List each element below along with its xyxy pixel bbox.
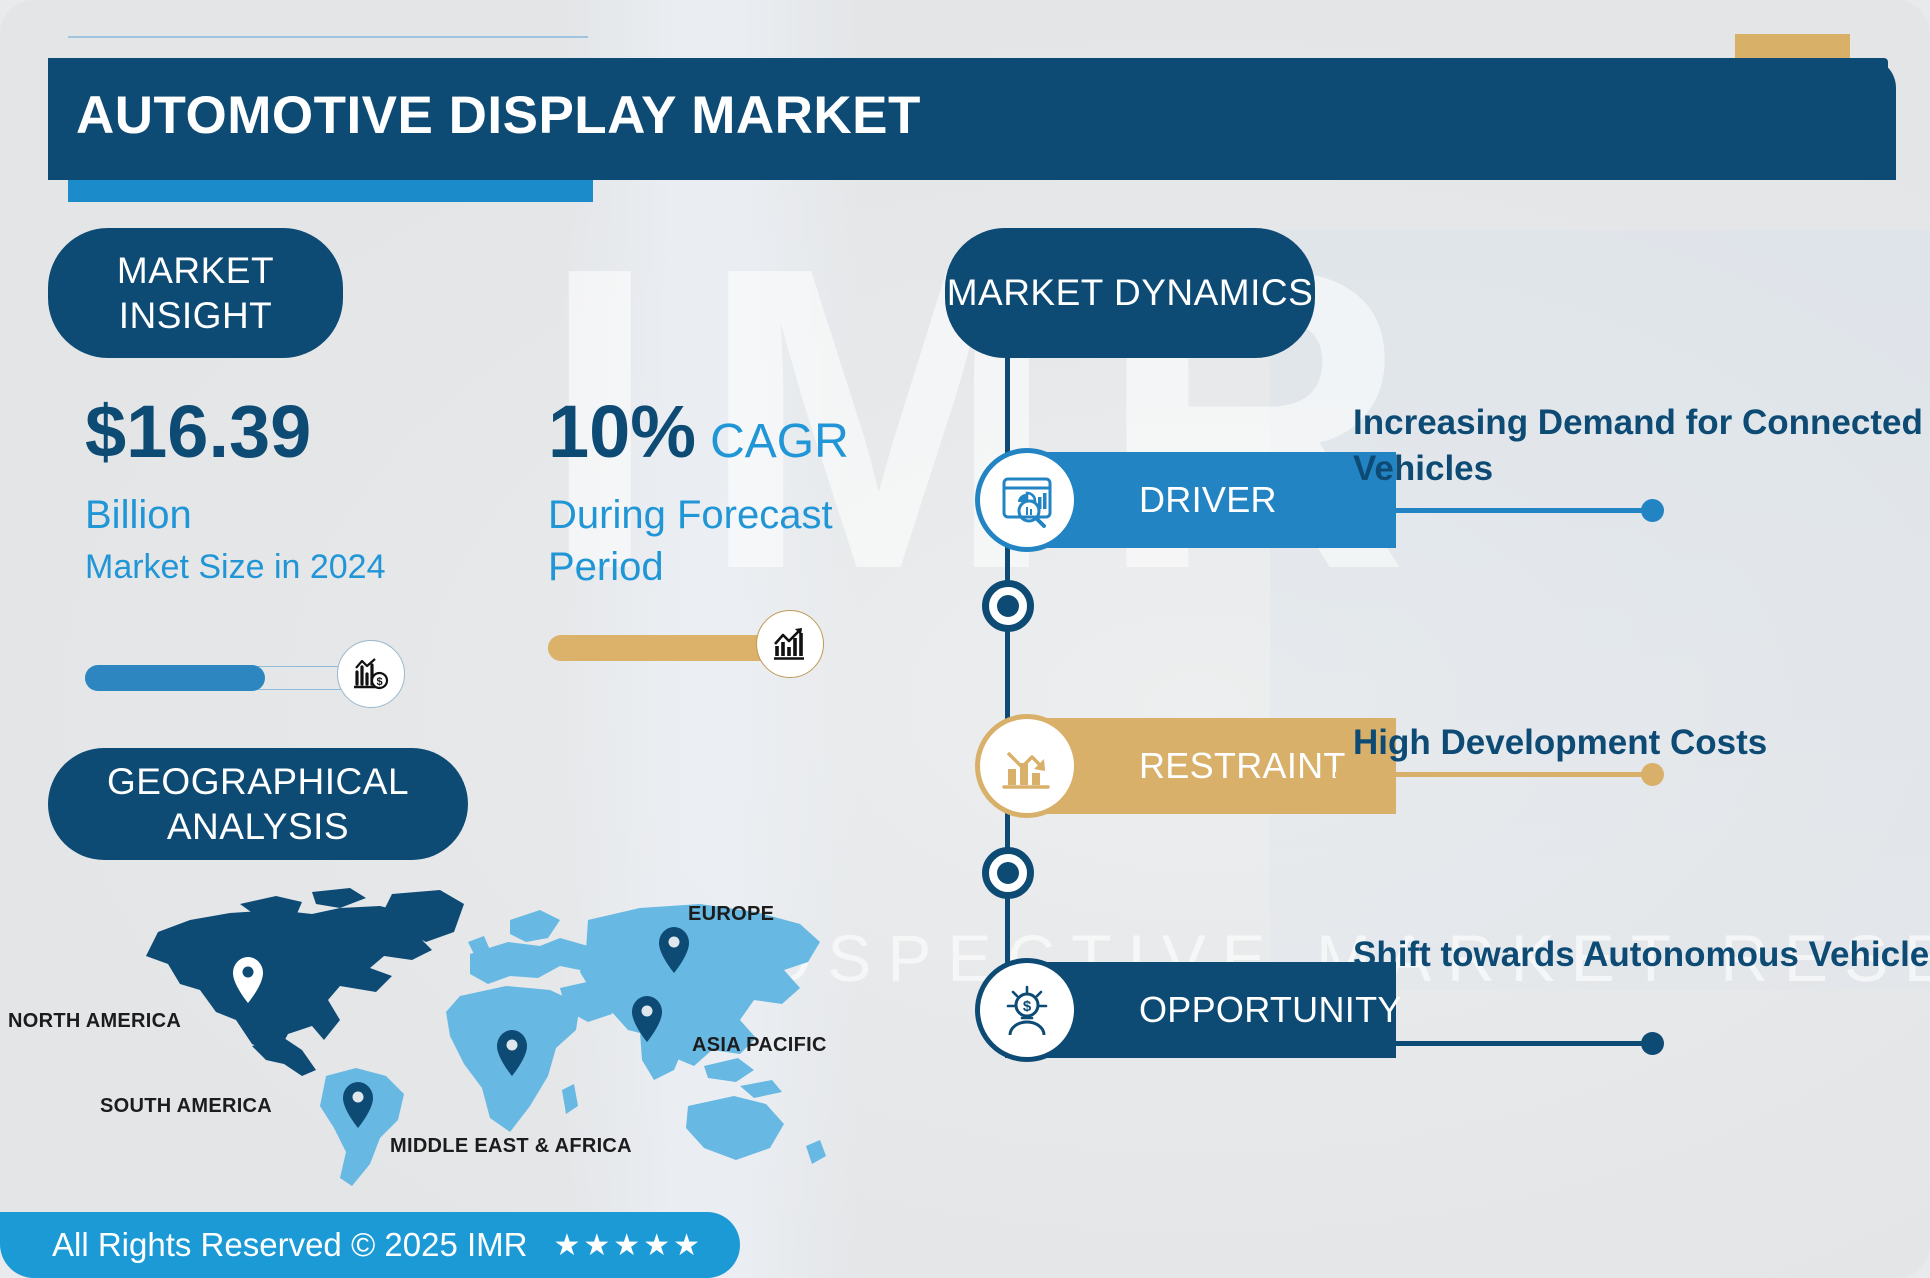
copyright-text: All Rights Reserved © 2025 IMR	[52, 1226, 528, 1264]
map-label-asia-pacific: ASIA PACIFIC	[692, 1034, 827, 1057]
driver-badge-label: DRIVER	[1031, 452, 1396, 548]
header-accent-strip	[68, 180, 593, 202]
progress-fill	[548, 635, 788, 661]
footer: All Rights Reserved © 2025 IMR ★★★★★	[0, 1212, 740, 1278]
dynamics-row-driver[interactable]: DRIVER	[965, 452, 1335, 548]
map-region-mexico	[252, 1038, 316, 1076]
opportunity-connector	[1335, 1041, 1655, 1046]
timeline-node	[982, 580, 1034, 632]
connector-line	[1335, 772, 1655, 777]
header-hairline	[68, 36, 588, 38]
connector-knob	[1641, 763, 1664, 786]
map-label-south-america: SOUTH AMERICA	[100, 1095, 272, 1118]
map-label-europe: EUROPE	[688, 903, 774, 926]
lightbulb-dollar-icon: $	[975, 958, 1079, 1062]
timeline-node	[982, 847, 1034, 899]
market-size-value: $16.39	[85, 395, 515, 469]
driver-connector	[1335, 508, 1655, 513]
dynamics-row-restraint[interactable]: RESTRAINT	[965, 718, 1335, 814]
progress-fill	[85, 665, 265, 691]
map-label-middle-east-africa: MIDDLE EAST & AFRICA	[390, 1135, 632, 1158]
market-size-unit: Billion	[85, 491, 515, 539]
opportunity-description: Shift towards Autonomous Vehicles	[1353, 932, 1930, 978]
rating-stars: ★★★★★	[554, 1228, 703, 1263]
stat-cagr: 10% CAGR During Forecast Period	[548, 395, 928, 591]
market-size-caption: Market Size in 2024	[85, 547, 515, 588]
dashboard-analytics-search-icon	[975, 448, 1079, 552]
restraint-badge-label: RESTRAINT	[1031, 718, 1396, 814]
cagr-progress	[548, 620, 788, 676]
cagr-label: CAGR	[710, 414, 849, 469]
dynamics-row-opportunity[interactable]: OPPORTUNITY $	[965, 962, 1335, 1058]
stat-market-size: $16.39 Billion Market Size in 2024	[85, 395, 515, 588]
map-label-north-america: NORTH AMERICA	[8, 1010, 181, 1033]
infographic-canvas: IMR OSPECTIVE MARKET RESEARCH AUTOMOTIVE…	[0, 0, 1930, 1278]
svg-text:$: $	[376, 676, 382, 688]
connector-knob	[1641, 499, 1664, 522]
header-bar-corner	[1850, 58, 1896, 180]
background-band-right	[1270, 230, 1930, 990]
restraint-connector	[1335, 772, 1655, 777]
section-heading-market-insight: MARKET INSIGHT	[48, 228, 343, 358]
cagr-value: 10%	[548, 395, 696, 469]
declining-bar-chart-icon	[975, 714, 1079, 818]
bar-chart-dollar-icon: $	[337, 640, 405, 708]
map-region-australia	[686, 1096, 784, 1160]
market-size-progress: $	[85, 650, 375, 706]
connector-line	[1335, 508, 1655, 513]
connector-line	[1335, 1041, 1655, 1046]
connector-knob	[1641, 1032, 1664, 1055]
map-region-new-zealand	[806, 1140, 826, 1164]
section-heading-geographical: GEOGRAPHICAL ANALYSIS	[48, 748, 468, 860]
section-heading-market-dynamics: MARKET DYNAMICS	[945, 228, 1315, 358]
driver-description: Increasing Demand for Connected Vehicles	[1353, 400, 1930, 492]
map-region-madagascar	[562, 1084, 578, 1114]
cagr-caption-line2: Period	[548, 543, 928, 591]
header-gold-accent	[1735, 34, 1850, 58]
page-title: AUTOMOTIVE DISPLAY MARKET	[76, 85, 921, 146]
restraint-description: High Development Costs	[1353, 720, 1930, 766]
growth-chart-icon	[756, 610, 824, 678]
cagr-caption-line1: During Forecast	[548, 491, 928, 539]
svg-text:$: $	[1023, 998, 1032, 1015]
map-region-sea-islands	[704, 1058, 782, 1098]
map-region-scandinavia	[510, 910, 560, 942]
